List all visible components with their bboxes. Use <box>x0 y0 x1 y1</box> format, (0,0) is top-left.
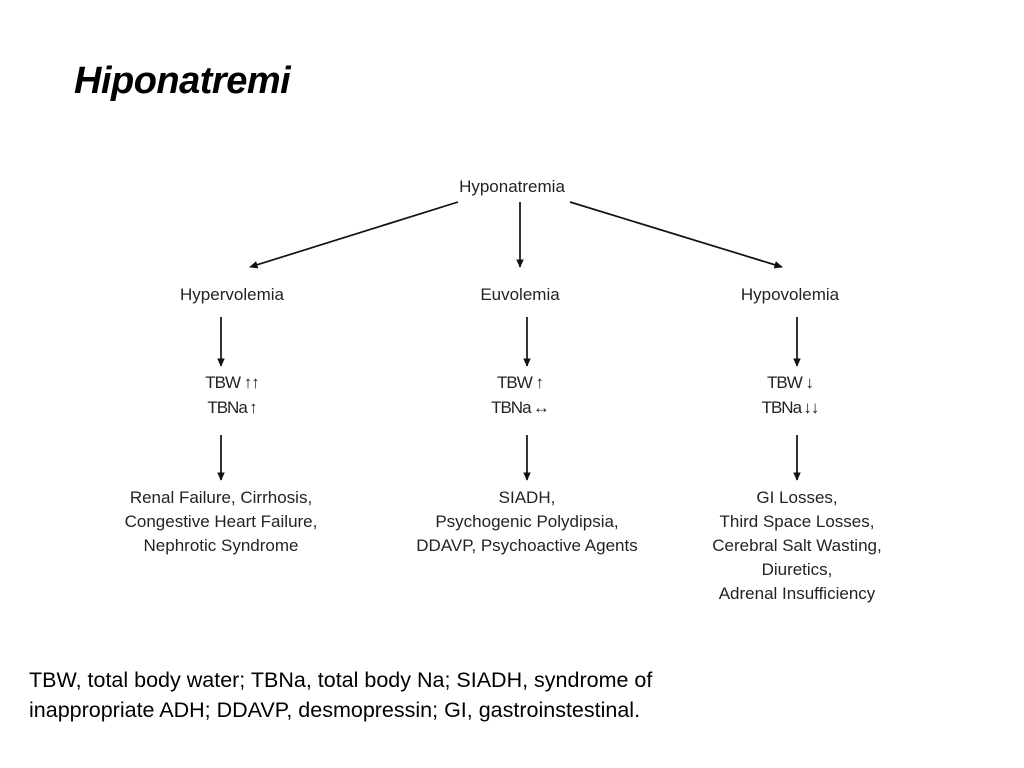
legend-line-2: inappropriate ADH; DDAVP, desmopressin; … <box>29 695 929 725</box>
measures-hypervolemia: TBW ↑↑ TBNa ↑ <box>92 370 372 420</box>
node-hyponatremia: Hyponatremia <box>362 175 662 198</box>
cause-item: Renal Failure, Cirrhosis, <box>61 486 381 510</box>
cause-item: Cerebral Salt Wasting, <box>637 534 957 558</box>
cause-item: Nephrotic Syndrome <box>61 534 381 558</box>
causes-hypervolemia: Renal Failure, Cirrhosis, Congestive Hea… <box>61 486 381 558</box>
measure-tbna-euvolemia: TBNa ↔ <box>380 395 660 420</box>
connector-root-to-hypovolemia <box>570 202 782 267</box>
measure-tbna-hypervolemia: TBNa ↑ <box>92 395 372 420</box>
hyponatremia-flowchart: Hyponatremia Hypervolemia Euvolemia Hypo… <box>0 150 1024 640</box>
legend-line-1: TBW, total body water; TBNa, total body … <box>29 665 929 695</box>
measure-tbw-euvolemia: TBW ↑ <box>380 370 660 395</box>
measures-hypovolemia: TBW ↓ TBNa ↓↓ <box>650 370 930 420</box>
measure-tbw-hypervolemia: TBW ↑↑ <box>92 370 372 395</box>
cause-item: GI Losses, <box>637 486 957 510</box>
measure-tbw-hypovolemia: TBW ↓ <box>650 370 930 395</box>
cause-item: Adrenal Insufficiency <box>637 582 957 606</box>
cause-item: Diuretics, <box>637 558 957 582</box>
cause-item: Congestive Heart Failure, <box>61 510 381 534</box>
page-title: Hiponatremi <box>74 60 290 103</box>
measures-euvolemia: TBW ↑ TBNa ↔ <box>380 370 660 420</box>
cause-item: Third Space Losses, <box>637 510 957 534</box>
measure-tbna-hypovolemia: TBNa ↓↓ <box>650 395 930 420</box>
abbreviation-legend: TBW, total body water; TBNa, total body … <box>29 665 929 725</box>
causes-hypovolemia: GI Losses, Third Space Losses, Cerebral … <box>637 486 957 606</box>
node-hypovolemia: Hypovolemia <box>650 283 930 306</box>
connector-root-to-hypervolemia <box>250 202 458 267</box>
node-hypervolemia: Hypervolemia <box>92 283 372 306</box>
node-euvolemia: Euvolemia <box>380 283 660 306</box>
